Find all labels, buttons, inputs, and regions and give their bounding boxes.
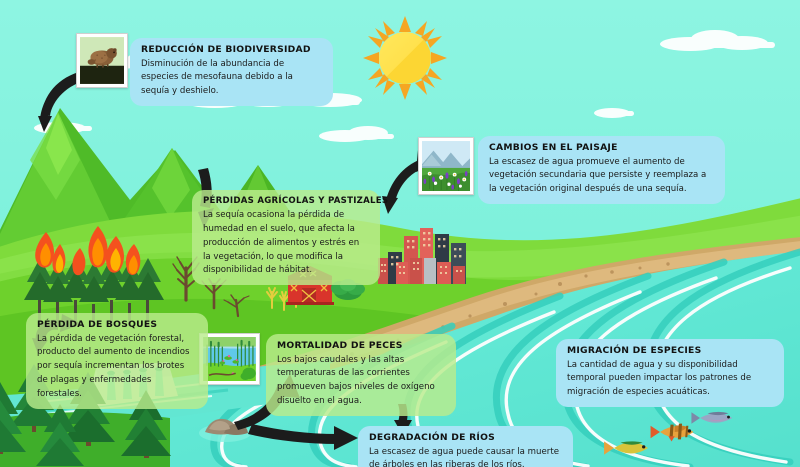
sun-disc: [379, 32, 431, 84]
callout-degradacion-rios: DEGRADACIÓN DE RÍOS La escasez de agua p…: [358, 426, 573, 467]
callout-body: Disminución de la abundancia de especies…: [141, 58, 322, 100]
thumb-paisaje: [418, 137, 474, 195]
callout-title: MORTALIDAD DE PECES: [277, 340, 445, 352]
callout-perdida-bosques: PÉRDIDA DE BOSQUES La pérdida de vegetac…: [26, 313, 208, 409]
thumb-mesofauna: [76, 33, 128, 88]
callout-body: La pérdida de vegetación forestal, produ…: [37, 333, 197, 403]
callout-cambios-paisaje: CAMBIOS EN EL PAISAJE La escasez de agua…: [478, 136, 725, 204]
callout-body: La sequía ocasiona la pérdida de humedad…: [203, 209, 369, 279]
callout-body: La escasez de agua promueve el aumento d…: [489, 156, 714, 198]
callout-perdidas-agricolas: PÉRDIDAS AGRÍCOLAS Y PASTIZALES La sequí…: [192, 190, 380, 285]
callout-title: MIGRACIÓN DE ESPECIES: [567, 345, 773, 357]
callout-body: Los bajos caudales y las altas temperatu…: [277, 354, 445, 410]
thumb-humedal: [199, 333, 260, 385]
mesofauna-photo: [80, 37, 124, 84]
callout-title: REDUCCIÓN DE BIODIVERSIDAD: [141, 44, 322, 56]
callout-body: La cantidad de agua y su disponibilidad …: [567, 359, 773, 401]
callout-title: PÉRDIDA DE BOSQUES: [37, 319, 197, 331]
paisaje-photo: [422, 141, 470, 191]
callout-title: PÉRDIDAS AGRÍCOLAS Y PASTIZALES: [203, 196, 369, 207]
infographic-poster: REDUCCIÓN DE BIODIVERSIDAD Disminución d…: [0, 0, 800, 467]
callout-title: CAMBIOS EN EL PAISAJE: [489, 142, 714, 154]
callout-mortalidad-peces: MORTALIDAD DE PECES Los bajos caudales y…: [266, 334, 456, 416]
humedal-photo: [203, 337, 256, 381]
sun-icon: [363, 16, 447, 100]
callout-body: La escasez de agua puede causar la muert…: [369, 446, 562, 467]
callout-title: DEGRADACIÓN DE RÍOS: [369, 432, 562, 444]
callout-reduccion-biodiversidad: REDUCCIÓN DE BIODIVERSIDAD Disminución d…: [130, 38, 333, 106]
callout-migracion-especies: MIGRACIÓN DE ESPECIES La cantidad de agu…: [556, 339, 784, 407]
